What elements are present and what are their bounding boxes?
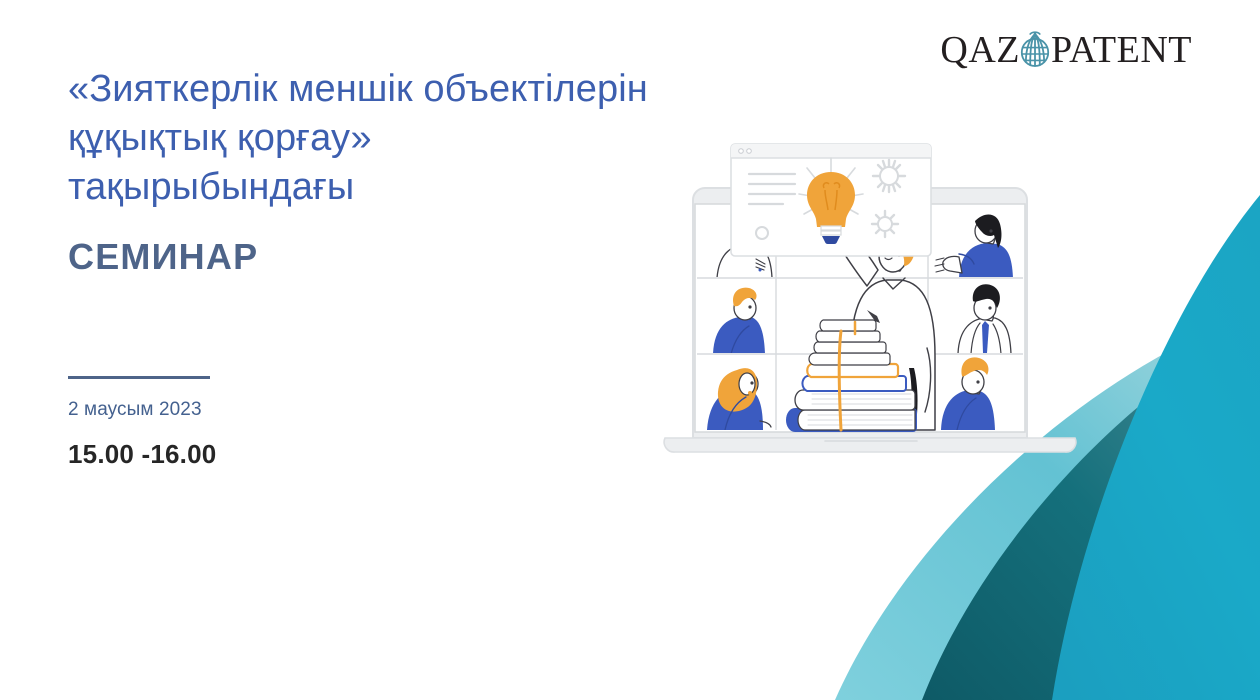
browser-popup-window [731, 144, 931, 256]
shanyrak-dome-emblem-icon [1015, 30, 1055, 70]
divider-rule [68, 376, 210, 379]
seminar-announcement-slide: QAZ PATENT «Зияткерлік меншік объектілер… [0, 0, 1260, 700]
popup-dot-2 [747, 149, 752, 154]
event-type-label: СЕМИНАР [68, 239, 258, 275]
event-date: 2 маусым 2023 [68, 400, 202, 419]
popup-dot-1 [739, 149, 744, 154]
logo-word-left: QAZ [940, 31, 1020, 69]
brand-logo: QAZ PATENT [940, 27, 1192, 73]
logo-word-right: PATENT [1051, 31, 1192, 69]
online-seminar-illustration [655, 118, 1105, 508]
event-time: 15.00 -16.00 [68, 441, 216, 467]
headline-line-1: «Зияткерлік меншік объектілерін [68, 65, 808, 114]
